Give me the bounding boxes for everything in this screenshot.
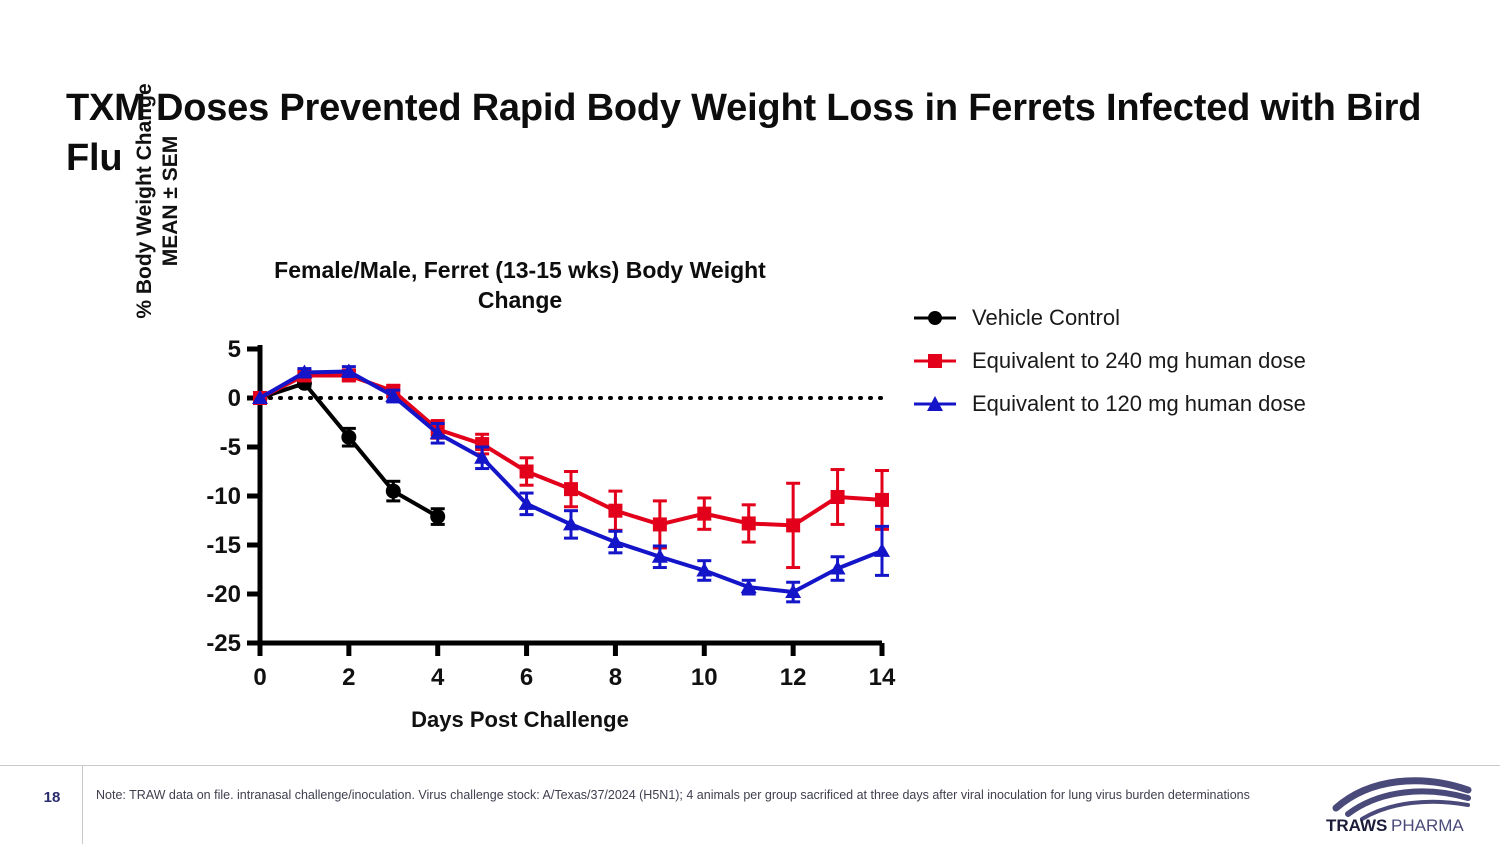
legend-item-vehicle-control[interactable]: Vehicle Control — [912, 296, 1382, 339]
data-point-square[interactable] — [831, 490, 845, 504]
chart-container: Female/Male, Ferret (13-15 wks) Body Wei… — [140, 255, 900, 745]
series-line — [260, 383, 438, 516]
slide-number: 18 — [30, 789, 74, 806]
legend-label-vehicle-control: Vehicle Control — [972, 305, 1120, 331]
y-axis-tick-label: 0 — [228, 385, 241, 412]
legend-marker-circle-icon — [912, 307, 958, 329]
data-point-square[interactable] — [653, 517, 667, 531]
y-axis-tick-label: -20 — [206, 581, 241, 608]
data-point-square[interactable] — [697, 507, 711, 521]
x-axis-tick-label: 6 — [520, 664, 533, 691]
data-point-circle[interactable] — [386, 484, 401, 499]
x-axis-label: Days Post Challenge — [260, 707, 780, 733]
y-axis-tick-label: 5 — [228, 336, 241, 363]
footer-note: Note: TRAW data on file. intranasal chal… — [96, 786, 1276, 804]
data-point-square[interactable] — [564, 482, 578, 496]
x-axis-tick-label: 12 — [780, 664, 807, 691]
x-axis-tick-label: 4 — [431, 664, 445, 691]
legend-label-dose-120: Equivalent to 120 mg human dose — [972, 391, 1306, 417]
data-point-circle[interactable] — [430, 509, 445, 524]
legend-marker-square-icon — [912, 350, 958, 372]
chart-plot-area: 50-5-10-15-20-2502468101214 — [140, 335, 900, 705]
data-point-square[interactable] — [520, 465, 534, 479]
y-axis-label-line-2: MEAN ± SEM — [158, 51, 184, 351]
logo-artwork-icon: TRAWS PHARMA — [1318, 772, 1478, 834]
data-point-square[interactable] — [875, 493, 889, 507]
data-point-triangle[interactable] — [874, 543, 890, 557]
y-axis-label-line-1: % Body Weight Change — [132, 51, 158, 351]
x-axis-tick-label: 2 — [342, 664, 355, 691]
footer-divider-horizontal — [0, 765, 1500, 766]
y-axis-label: % Body Weight Change MEAN ± SEM — [132, 51, 184, 351]
legend-label-dose-240: Equivalent to 240 mg human dose — [972, 348, 1306, 374]
y-axis-tick-label: -5 — [220, 434, 241, 461]
logo-text-traws: TRAWS — [1326, 816, 1387, 834]
legend-item-dose-120[interactable]: Equivalent to 120 mg human dose — [912, 382, 1382, 425]
x-axis-tick-label: 0 — [253, 664, 266, 691]
legend-item-dose-240[interactable]: Equivalent to 240 mg human dose — [912, 339, 1382, 382]
page-title: TXM Doses Prevented Rapid Body Weight Lo… — [66, 83, 1426, 183]
data-point-circle[interactable] — [341, 430, 356, 445]
logo-text-pharma: PHARMA — [1391, 816, 1464, 834]
data-point-square[interactable] — [742, 516, 756, 530]
y-axis-tick-label: -25 — [206, 630, 241, 657]
y-axis-tick-label: -15 — [206, 532, 241, 559]
x-axis-tick-label: 10 — [691, 664, 718, 691]
data-point-square[interactable] — [608, 504, 622, 518]
x-axis-tick-label: 8 — [609, 664, 622, 691]
chart-title: Female/Male, Ferret (13-15 wks) Body Wei… — [260, 255, 780, 315]
legend-marker-triangle-icon — [912, 393, 958, 415]
traws-pharma-logo: TRAWS PHARMA — [1318, 772, 1478, 834]
footer-divider-vertical — [82, 766, 83, 844]
slide-canvas: TXM Doses Prevented Rapid Body Weight Lo… — [0, 0, 1500, 844]
chart-title-line-1: Female/Male, Ferret (13-15 wks) — [274, 257, 619, 283]
chart-legend: Vehicle Control Equivalent to 240 mg hum… — [912, 296, 1382, 425]
y-axis-tick-label: -10 — [206, 483, 241, 510]
data-point-square[interactable] — [786, 518, 800, 532]
x-axis-tick-label: 14 — [869, 664, 896, 691]
